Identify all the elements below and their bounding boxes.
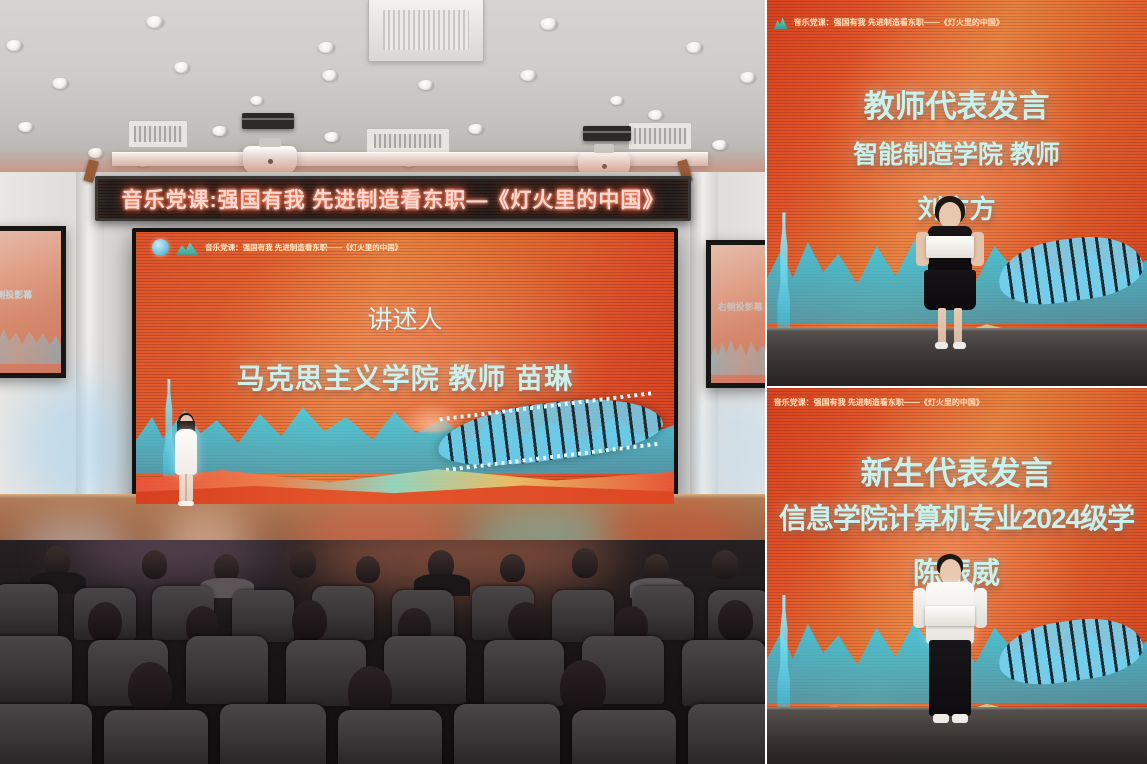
main-auditorium-photo: 左侧投影幕 右侧投影幕 音乐党课:强国有我 先进制造看东职—《灯火里的中国》 (0, 0, 765, 764)
audience-head (142, 550, 167, 579)
downlight (520, 70, 537, 81)
teacher-slide-line1: 教师代表发言 (766, 81, 1147, 126)
auditorium-seat (552, 590, 614, 642)
student-speech-photo: 音乐党课：强国有我 先进制造看东职——《灯火里的中国》 新生代表发言 信息学院计… (766, 388, 1147, 764)
ac-vent (368, 0, 484, 62)
student-trousers (929, 640, 971, 716)
audience-head (292, 600, 327, 641)
speech-script (926, 236, 974, 258)
speech-script (925, 606, 975, 626)
student-slide-line2: 信息学院计算机专业2024级学 (766, 497, 1147, 537)
mountain-logo-icon (176, 240, 198, 255)
student-speaker (912, 554, 988, 746)
slide-subtitle: 马克思主义学院 教师 苗琳 (136, 357, 674, 397)
side-screen-right-label: 右侧投影幕 (718, 300, 763, 313)
projector-mount (242, 113, 294, 129)
ac-vent (366, 128, 450, 154)
auditorium-seat (0, 636, 72, 704)
auditorium-seat (454, 704, 560, 764)
ceiling-projector (243, 146, 297, 174)
auditorium-seat (384, 636, 466, 704)
downlight (18, 122, 34, 132)
circle-emblem-logo-icon (152, 239, 169, 256)
ceiling-rail (112, 152, 708, 166)
downlight (686, 42, 703, 53)
audience-head (128, 662, 172, 714)
downlight (6, 40, 23, 51)
auditorium-seat (688, 704, 765, 764)
led-banner: 音乐党课:强国有我 先进制造看东职—《灯火里的中国》 (95, 176, 691, 221)
panel-divider-horizontal (766, 386, 1147, 388)
downlight (402, 158, 416, 167)
side-screen-left: 左侧投影幕 (0, 226, 66, 378)
auditorium-seat (186, 636, 268, 704)
downlight (540, 18, 558, 30)
auditorium-seat (0, 704, 92, 764)
auditorium-seat (104, 710, 208, 764)
auditorium-seat (484, 640, 564, 706)
auditorium-seat (220, 704, 326, 764)
downlight (322, 70, 338, 81)
audience-head (712, 550, 738, 579)
slide-header-text: 音乐党课：强国有我 先进制造看东职——《灯火里的中国》 (774, 397, 984, 408)
wall-column (76, 172, 104, 502)
slide-header: 音乐党课：强国有我 先进制造看东职——《灯火里的中国》 (774, 397, 984, 408)
photo-collage: 左侧投影幕 右侧投影幕 音乐党课:强国有我 先进制造看东职—《灯火里的中国》 (0, 0, 1147, 764)
slide-title: 讲述人 (136, 300, 674, 336)
slide-header-text: 音乐党课：强国有我 先进制造看东职——《灯火里的中国》 (794, 17, 1004, 28)
slide-header: 音乐党课：强国有我 先进制造看东职——《灯火里的中国》 (774, 15, 1004, 29)
auditorium-seat (232, 590, 294, 642)
audience-head (356, 556, 380, 583)
teacher-speaker (914, 196, 986, 356)
teacher-speech-photo: 音乐党课：强国有我 先进制造看东职——《灯火里的中国》 教师代表发言 智能制造学… (766, 0, 1147, 386)
downlight (212, 126, 228, 136)
downlight (324, 132, 340, 142)
audience-head (718, 600, 753, 641)
ac-vent (128, 120, 188, 148)
audience-head (290, 548, 316, 578)
downlight (136, 158, 150, 167)
downlight (610, 96, 624, 105)
side-screen-right: 右侧投影幕 (706, 240, 765, 388)
downlight (556, 152, 570, 161)
led-banner-text: 音乐党课:强国有我 先进制造看东职—《灯火里的中国》 (122, 184, 665, 214)
downlight (174, 62, 190, 73)
teacher-dress (924, 270, 976, 310)
downlight (712, 140, 728, 150)
mountain-logo-icon (774, 15, 788, 29)
downlight (88, 148, 104, 158)
downlight (740, 72, 756, 83)
auditorium-seat (0, 584, 58, 638)
downlight (468, 124, 484, 134)
auditorium-seat (682, 640, 765, 706)
auditorium-seat (572, 710, 676, 764)
side-screen-left-label: 左侧投影幕 (0, 288, 32, 301)
audience-head (508, 602, 543, 642)
audience-head (500, 554, 525, 582)
projector-mount (583, 126, 631, 141)
downlight (648, 110, 664, 120)
audience-head (572, 548, 598, 578)
audience-seating (0, 540, 765, 764)
ceiling (0, 0, 765, 175)
audience-head (560, 660, 606, 714)
audience-head (88, 602, 122, 642)
main-speaker (172, 415, 200, 507)
ac-vent (628, 122, 692, 150)
downlight (318, 42, 335, 53)
downlight (146, 16, 164, 28)
panel-divider-vertical (765, 0, 767, 764)
downlight (418, 80, 434, 90)
student-slide-line1: 新生代表发言 (766, 448, 1147, 494)
auditorium-seat (338, 710, 442, 764)
slide-header: 音乐党课：强国有我 先进制造看东职——《灯火里的中国》 (152, 239, 402, 256)
stage-spill-light (60, 540, 280, 580)
slide-header-text: 音乐党课：强国有我 先进制造看东职——《灯火里的中国》 (205, 242, 402, 253)
teacher-slide-line2: 智能制造学院 教师 (766, 135, 1147, 171)
main-stage-screen: 音乐党课：强国有我 先进制造看东职——《灯火里的中国》 讲述人 马克思主义学院 … (132, 228, 678, 508)
downlight (52, 78, 69, 89)
downlight (250, 96, 264, 105)
